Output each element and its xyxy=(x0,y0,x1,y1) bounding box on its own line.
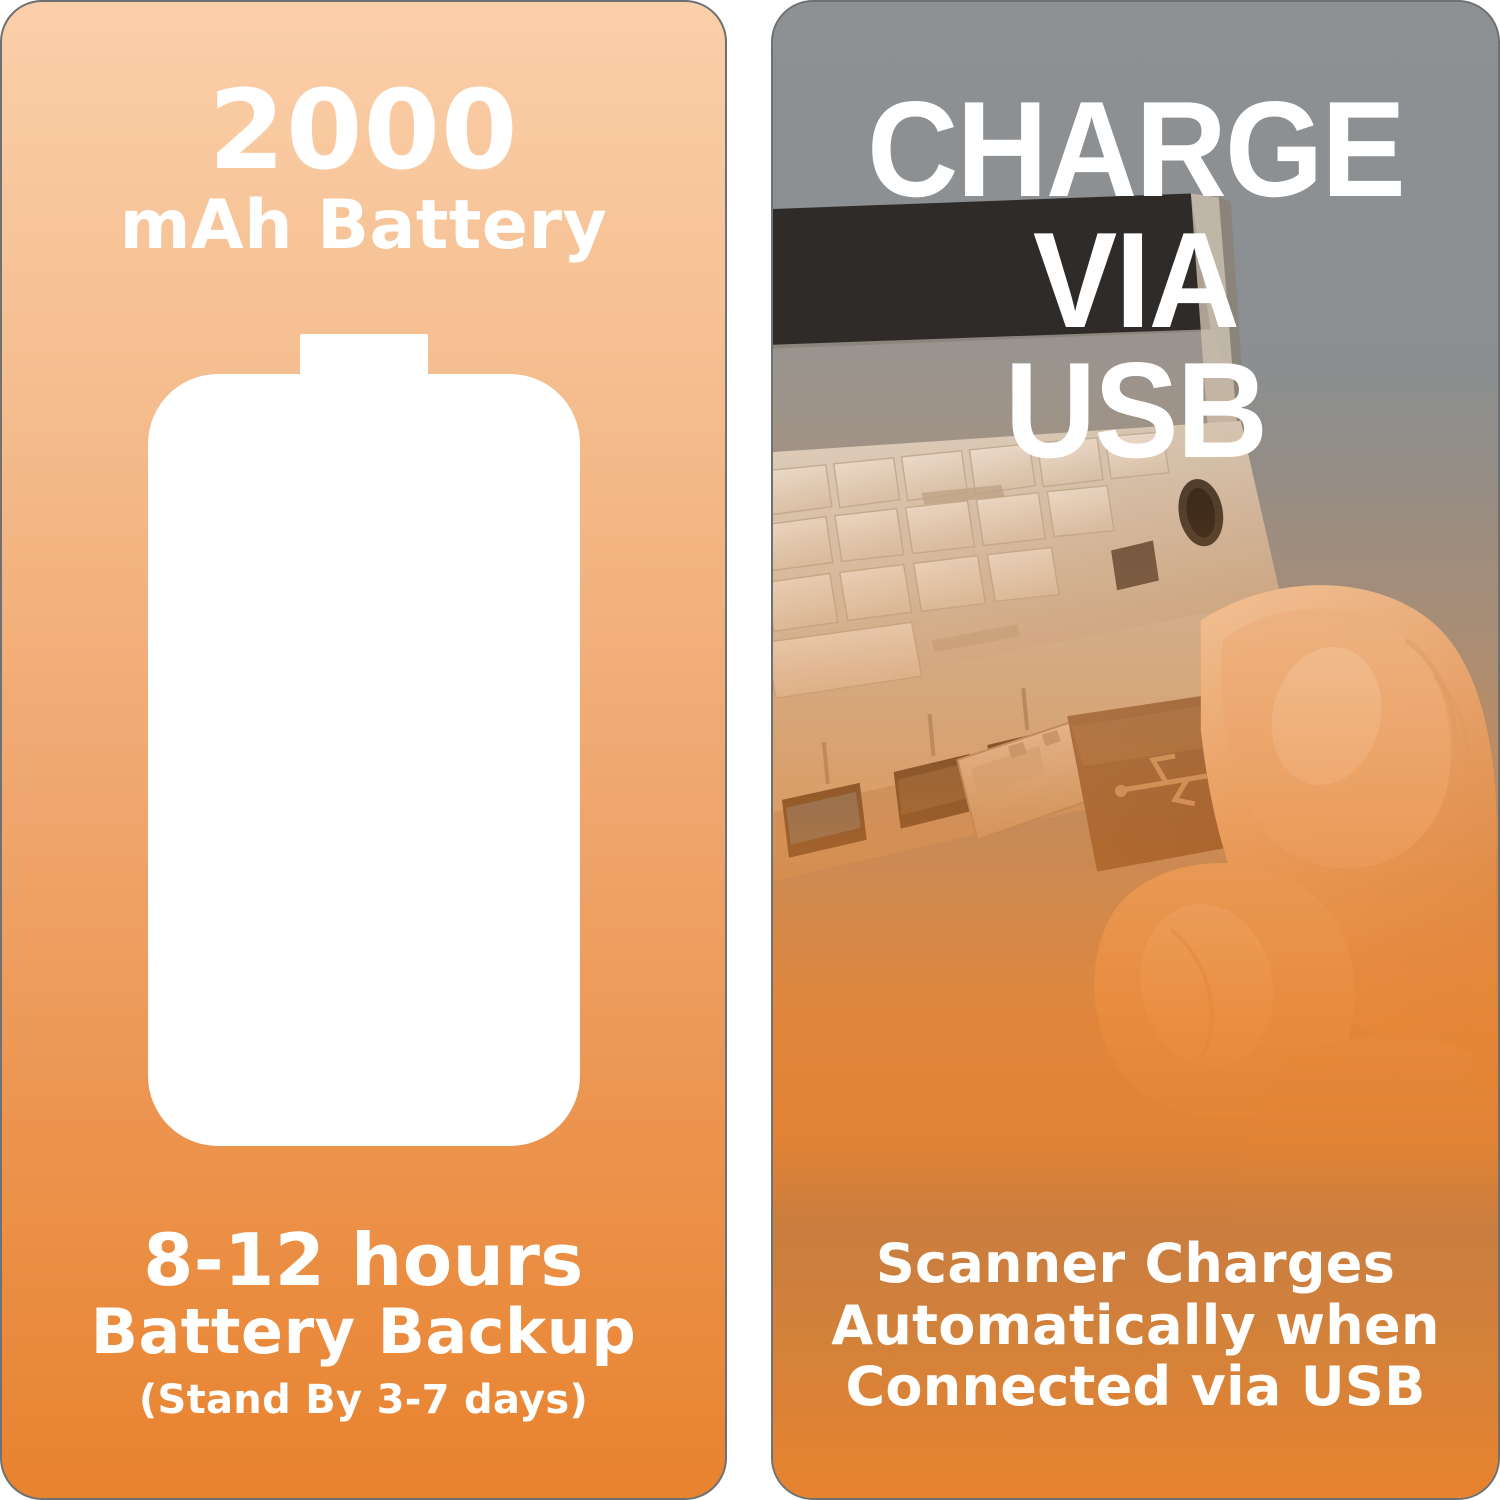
usb-charge-panel: CHARGE VIA USB Scanner Charges Automatic… xyxy=(771,0,1500,1500)
battery-icon-container xyxy=(2,334,725,1164)
usb-heading: CHARGE VIA USB xyxy=(773,84,1498,476)
battery-capacity-unit: mAh Battery xyxy=(2,189,725,262)
usb-footer: Scanner Charges Automatically when Conne… xyxy=(773,1233,1498,1418)
usb-heading-line-3: USB xyxy=(798,345,1472,476)
usb-heading-line-2: VIA xyxy=(798,215,1472,346)
battery-footer: 8-12 hours Battery Backup (Stand By 3-7 … xyxy=(2,1222,725,1425)
usb-heading-line-1: CHARGE xyxy=(798,84,1472,215)
product-feature-infographic: 2000 mAh Battery xyxy=(0,0,1500,1500)
usb-footer-line-2: Automatically when xyxy=(773,1295,1498,1357)
usb-footer-line-3: Connected via USB xyxy=(773,1356,1498,1418)
usb-footer-line-1: Scanner Charges xyxy=(773,1233,1498,1295)
battery-heading: 2000 mAh Battery xyxy=(2,74,725,263)
battery-backup-label: Battery Backup xyxy=(2,1298,725,1366)
battery-backup-duration: 8-12 hours xyxy=(2,1222,725,1298)
battery-full-icon xyxy=(144,334,584,1164)
battery-capacity-value: 2000 xyxy=(2,74,725,187)
battery-feature-panel: 2000 mAh Battery xyxy=(0,0,727,1500)
battery-standby-note: (Stand By 3-7 days) xyxy=(2,1376,725,1424)
